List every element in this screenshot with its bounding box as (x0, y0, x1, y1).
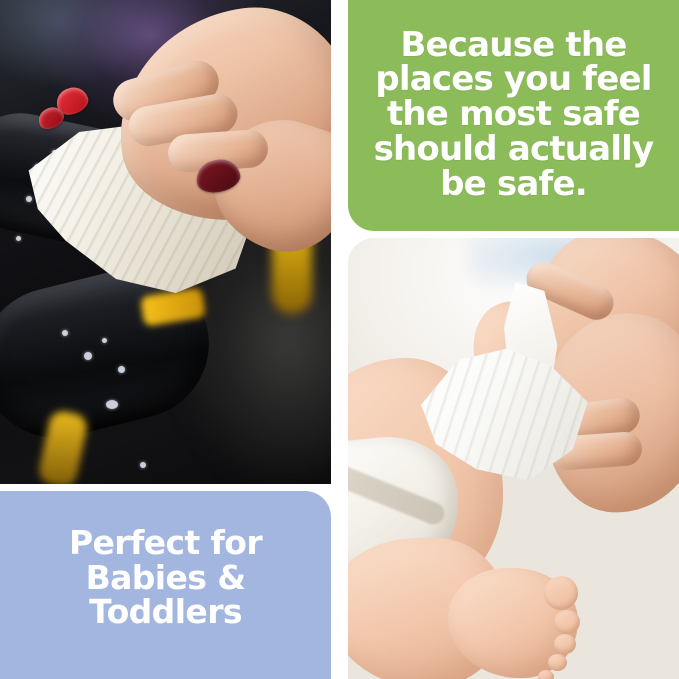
water-droplet (118, 366, 125, 373)
baby-toe (554, 634, 576, 654)
baby-toe (544, 576, 578, 610)
water-droplet (26, 196, 32, 202)
photo-wiping-baby (348, 238, 679, 679)
baby-toe (554, 610, 580, 634)
water-droplet (102, 338, 107, 343)
baby-toe (538, 670, 554, 679)
water-droplet (84, 352, 92, 360)
blue-claim-panel: Perfect for Babies & Toddlers (0, 491, 331, 679)
green-quote-panel: Because the places you feel the most saf… (348, 0, 679, 231)
blue-claim-text: Perfect for Babies & Toddlers (69, 526, 262, 630)
water-droplet (16, 236, 21, 241)
photo-wiping-cart-handle (0, 0, 331, 484)
baby-toe (548, 654, 567, 671)
water-droplet (106, 400, 118, 409)
poster-root: Because the places you feel the most saf… (0, 0, 679, 679)
green-quote-text: Because the places you feel the most saf… (374, 28, 654, 201)
water-droplet (140, 462, 146, 468)
water-droplet (62, 330, 68, 336)
